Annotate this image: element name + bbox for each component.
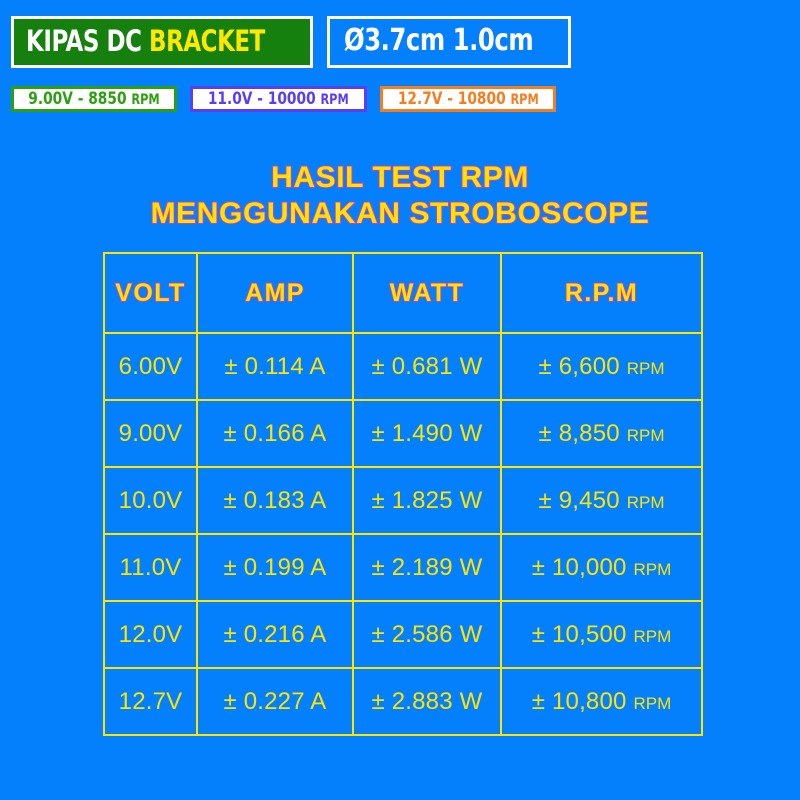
cell-watt: ± 2.586 W [353, 601, 501, 668]
spec-badge-9v: 9.00V - 8850 RPM [11, 86, 177, 112]
cell-rpm: ± 10,000 RPM [501, 534, 702, 601]
cell-rpm-value: ± 6,600 [539, 353, 620, 380]
cell-volt: 11.0V [104, 534, 197, 601]
spec-badge-9v-volt: 9.00V [28, 89, 73, 109]
cell-watt: ± 1.825 W [353, 467, 501, 534]
cell-rpm-unit: RPM [627, 493, 665, 512]
cell-amp: ± 0.183 A [197, 467, 353, 534]
cell-watt: ± 0.681 W [353, 333, 501, 400]
product-title-chip: KIPAS DC BRACKET [11, 16, 313, 68]
cell-rpm-unit: RPM [633, 627, 671, 646]
spec-badge-11v-volt: 11.0V [208, 89, 253, 109]
cell-amp: ± 0.227 A [197, 668, 353, 735]
spec-badge-9v-rpm-value: 8850 [88, 89, 126, 109]
table-row: 11.0V ± 0.199 A ± 2.189 W ± 10,000 RPM [104, 534, 702, 601]
cell-rpm-unit: RPM [633, 694, 671, 713]
page-title-line-1: HASIL TEST RPM [0, 160, 800, 196]
spec-badge-11v-sep: - [257, 89, 263, 109]
cell-amp: ± 0.216 A [197, 601, 353, 668]
column-header-rpm: R.P.M [501, 253, 702, 333]
spec-badge-9v-sep: - [78, 89, 84, 109]
spec-badge-11v-rpm-value: 10000 [268, 89, 316, 109]
cell-rpm: ± 10,800 RPM [501, 668, 702, 735]
cell-watt: ± 2.189 W [353, 534, 501, 601]
cell-rpm: ± 9,450 RPM [501, 467, 702, 534]
cell-volt: 6.00V [104, 333, 197, 400]
cell-rpm-value: ± 8,850 [539, 420, 620, 447]
product-title-text: KIPAS DC BRACKET [26, 27, 265, 56]
spec-badge-9v-text: 9.00V - 8850 RPM [28, 91, 159, 108]
spec-badge-11v: 11.0V - 10000 RPM [190, 86, 367, 112]
product-title-primary: KIPAS DC [26, 24, 142, 58]
table-row: 12.7V ± 0.227 A ± 2.883 W ± 10,800 RPM [104, 668, 702, 735]
cell-volt: 12.7V [104, 668, 197, 735]
table-header-row: VOLT AMP WATT R.P.M [104, 253, 702, 333]
table-row: 9.00V ± 0.166 A ± 1.490 W ± 8,850 RPM [104, 400, 702, 467]
spec-badge-127v-volt: 12.7V [397, 89, 442, 109]
cell-volt: 9.00V [104, 400, 197, 467]
spec-badge-127v-rpm-unit: RPM [510, 92, 538, 108]
cell-rpm-unit: RPM [633, 560, 671, 579]
column-header-watt: WATT [353, 253, 501, 333]
dimension-chip: Ø3.7cm 1.0cm [327, 16, 571, 68]
table-row: 10.0V ± 0.183 A ± 1.825 W ± 9,450 RPM [104, 467, 702, 534]
cell-rpm: ± 8,850 RPM [501, 400, 702, 467]
cell-rpm-value: ± 10,000 [532, 554, 627, 581]
table-row: 12.0V ± 0.216 A ± 2.586 W ± 10,500 RPM [104, 601, 702, 668]
page-title-line-2: MENGGUNAKAN STROBOSCOPE [0, 196, 800, 232]
rpm-results-table: VOLT AMP WATT R.P.M 6.00V ± 0.114 A ± 0.… [103, 252, 703, 736]
spec-badge-127v: 12.7V - 10800 RPM [380, 86, 557, 112]
spec-badge-127v-sep: - [447, 89, 453, 109]
spec-badge-11v-rpm-unit: RPM [320, 92, 348, 108]
spec-badge-row: 9.00V - 8850 RPM 11.0V - 10000 RPM 12.7V… [11, 86, 556, 112]
cell-volt: 10.0V [104, 467, 197, 534]
table-row: 6.00V ± 0.114 A ± 0.681 W ± 6,600 RPM [104, 333, 702, 400]
cell-rpm: ± 10,500 RPM [501, 601, 702, 668]
cell-rpm: ± 6,600 RPM [501, 333, 702, 400]
cell-rpm-unit: RPM [627, 359, 665, 378]
cell-amp: ± 0.114 A [197, 333, 353, 400]
cell-rpm-value: ± 9,450 [539, 487, 620, 514]
spec-badge-11v-text: 11.0V - 10000 RPM [208, 91, 349, 108]
spec-badge-127v-rpm-value: 10800 [457, 89, 505, 109]
cell-amp: ± 0.166 A [197, 400, 353, 467]
cell-watt: ± 1.490 W [353, 400, 501, 467]
dimension-text: Ø3.7cm 1.0cm [344, 26, 533, 56]
cell-watt: ± 2.883 W [353, 668, 501, 735]
cell-volt: 12.0V [104, 601, 197, 668]
cell-rpm-value: ± 10,800 [532, 688, 627, 715]
spec-badge-9v-rpm-unit: RPM [131, 92, 159, 108]
product-title-accent: BRACKET [149, 24, 265, 58]
spec-badge-127v-text: 12.7V - 10800 RPM [397, 91, 538, 108]
column-header-volt: VOLT [104, 253, 197, 333]
column-header-amp: AMP [197, 253, 353, 333]
cell-rpm-unit: RPM [627, 426, 665, 445]
cell-amp: ± 0.199 A [197, 534, 353, 601]
cell-rpm-value: ± 10,500 [532, 621, 627, 648]
header-badge-row: KIPAS DC BRACKET Ø3.7cm 1.0cm [11, 16, 571, 68]
page-title: HASIL TEST RPM MENGGUNAKAN STROBOSCOPE [0, 160, 800, 232]
